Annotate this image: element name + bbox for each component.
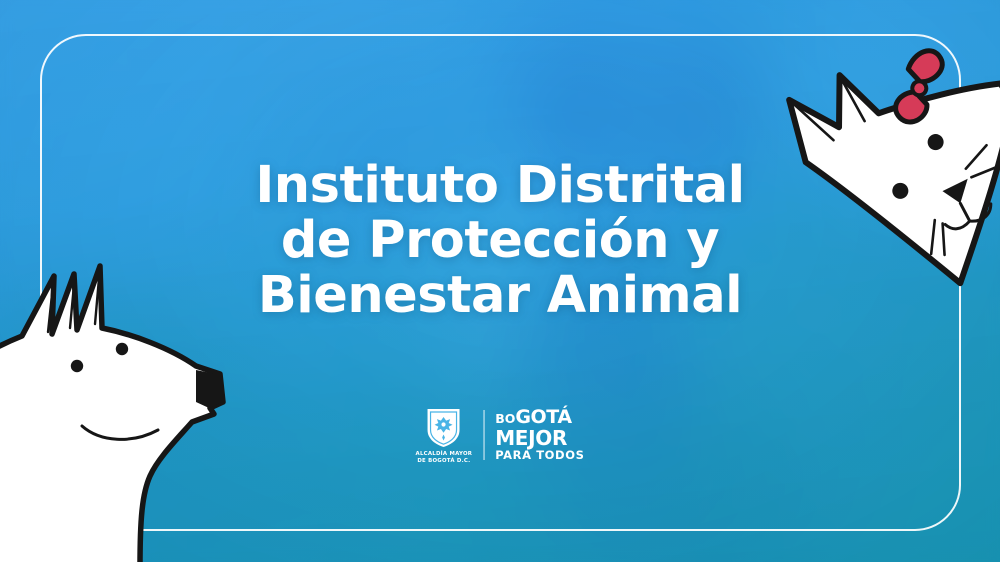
slogan-line-1: BOGOTÁ — [495, 408, 584, 427]
slogan-line-3: PARA TODOS — [495, 450, 584, 462]
slogan-line-2: MEJOR — [495, 428, 584, 448]
coat-of-arms-icon — [425, 406, 463, 448]
logo-divider — [483, 410, 484, 460]
logo-lockup: ALCALDÍA MAYOR DE BOGOTÁ D.C. BOGOTÁ MEJ… — [416, 404, 585, 466]
city-slogan: BOGOTÁ MEJOR PARA TODOS — [495, 408, 584, 462]
crest-caption-line-2: DE BOGOTÁ D.C. — [417, 458, 470, 464]
dog-eye-right — [116, 343, 128, 355]
alcaldia-crest: ALCALDÍA MAYOR DE BOGOTÁ D.C. — [416, 406, 473, 465]
crest-caption-line-1: ALCALDÍA MAYOR — [416, 451, 473, 457]
dog-line-art — [0, 262, 250, 562]
crest-caption: ALCALDÍA MAYOR DE BOGOTÁ D.C. — [416, 451, 473, 465]
poster-canvas: Instituto Distrital de Protección y Bien… — [0, 0, 1000, 562]
slogan-bo: BO — [495, 411, 515, 426]
slogan-gota: GOTÁ — [515, 406, 571, 428]
dog-eye-left — [71, 360, 83, 372]
cat-line-art — [800, 52, 1000, 320]
